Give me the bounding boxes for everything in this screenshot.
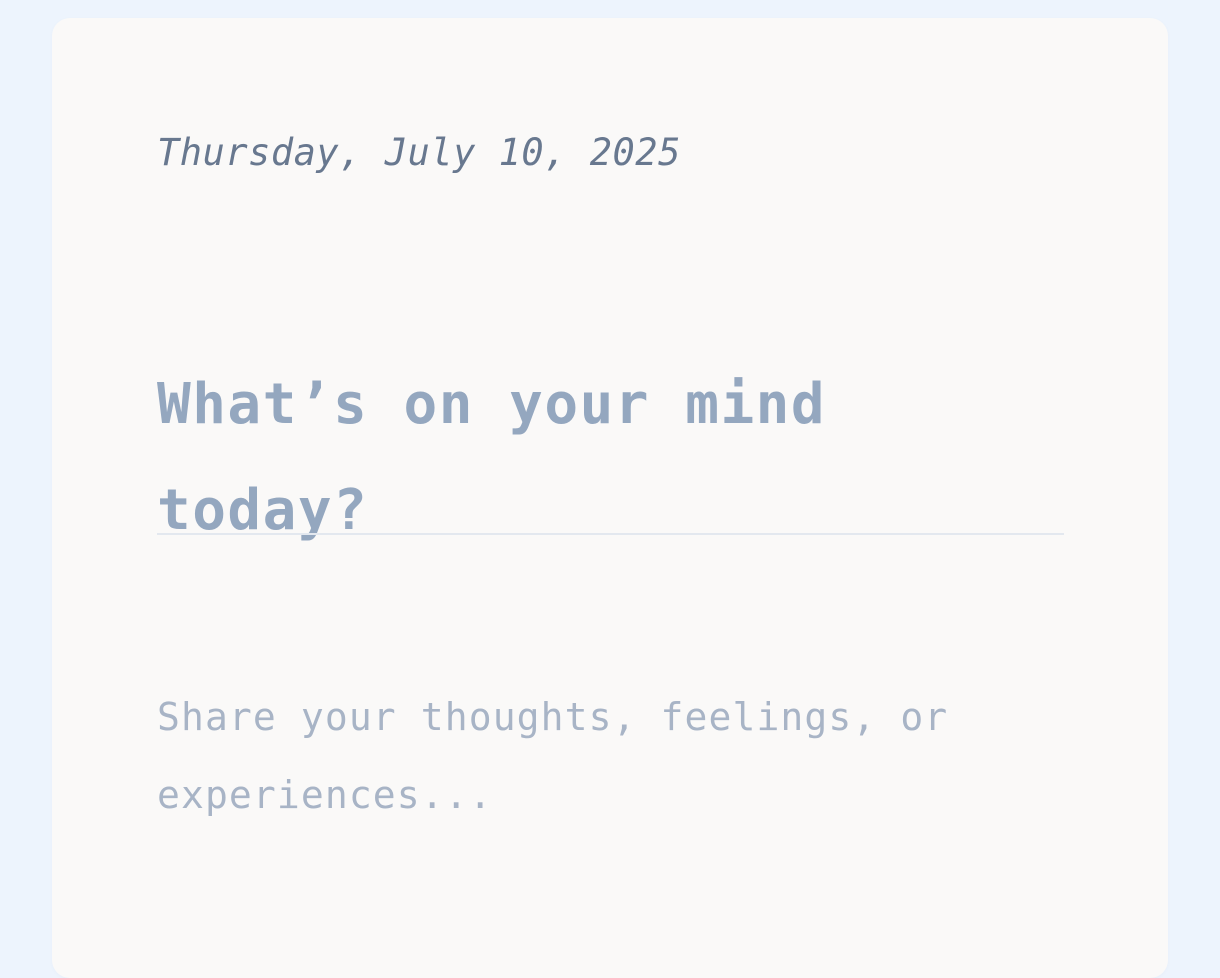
journal-entry-card: Thursday, July 10, 2025 What’s on your m… bbox=[52, 18, 1168, 978]
journal-entry-textarea[interactable]: Share your thoughts, feelings, or experi… bbox=[157, 578, 1065, 938]
journal-entry-placeholder: Share your thoughts, feelings, or experi… bbox=[157, 678, 1077, 834]
entry-date-label: Thursday, July 10, 2025 bbox=[157, 130, 681, 176]
journal-prompt-heading: What’s on your mind today? bbox=[157, 352, 1037, 564]
journal-app-root: Thursday, July 10, 2025 What’s on your m… bbox=[0, 0, 1220, 928]
section-divider bbox=[157, 533, 1064, 535]
journal-card-content: Thursday, July 10, 2025 What’s on your m… bbox=[157, 18, 1065, 978]
